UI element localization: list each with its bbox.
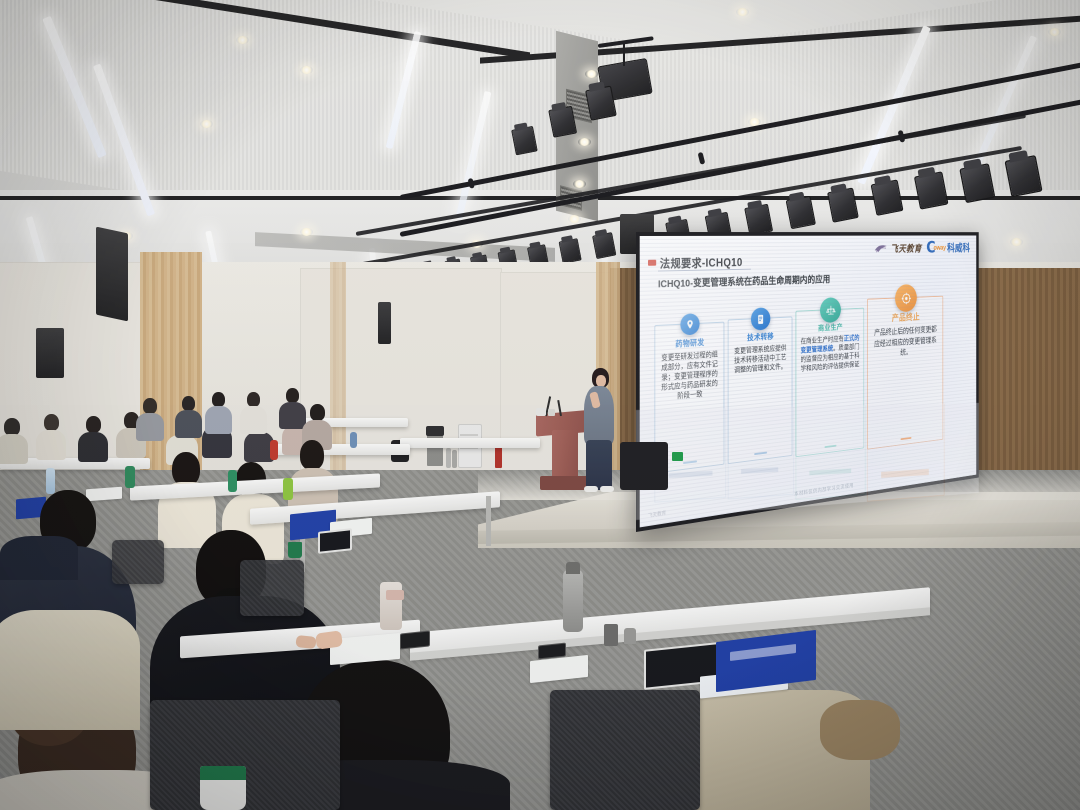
gas-cylinder [452,450,457,468]
water-bottle [350,432,357,448]
conference-room-photo: 飞天教育 C oway 科威科 法规要求-ICHQ10 ICHQ10-变更管理系… [0,0,1080,810]
water-bottle [46,468,55,494]
ceiling-downlight [568,215,581,223]
attendee-hand [295,635,316,649]
wall-speaker [36,328,64,378]
card-body: 产品终止后的任何变更都应经过相应的变更管理系统。 [871,324,939,361]
coffee-cup [288,542,302,558]
card-body: 变更至研发过程的组成部分，应有文件记录；变更管理程序的形式应与药品研发的阶段一致 [660,350,719,403]
gas-cylinder [446,448,451,468]
ceiling-downlight [585,70,598,78]
stage-spotlight [585,85,617,120]
card-body: 变更管理系统应提供技术转移活动中工艺调整的管理和文件。 [733,343,788,375]
card-heading: 技术转移 [733,330,788,344]
fire-extinguisher [495,446,502,468]
stage-spotlight [744,204,773,236]
trolley-shelf [460,434,478,436]
coway-logo: C oway 科威科 [926,240,970,256]
attendee-hair [820,700,900,760]
card-heading: 药物研发 [660,336,719,350]
stage-spotlight [548,106,577,138]
drink-bottle [228,470,237,492]
coway-oway-text: oway [934,244,946,252]
smartphone [400,630,430,649]
stage-spotlight [1004,155,1042,197]
presenter-shoe [584,486,598,492]
card-heading: 商业生产 [800,321,860,334]
presenter-torso [584,386,614,444]
location-pin-icon [680,313,699,335]
coffee-cup-lid [200,766,246,780]
slide-title-mark-icon [648,260,656,266]
slide-subtitle: ICHQ10-变更管理系统在药品生命周期内的应用 [658,272,830,291]
ceiling-downlight [300,66,313,74]
exit-sign-icon [672,452,683,461]
cup-contents [386,590,404,600]
ceiling-downlight [1048,28,1061,36]
ceiling-downlight [573,180,586,188]
stage-spotlight [914,171,949,209]
presenter-shoe [600,486,614,492]
table-leg [486,496,491,546]
ceiling-downlight [578,138,591,146]
feitian-logo: 飞天教育 [874,241,921,255]
card-body-commercial: 在商业生产时应有正式的变更管理系统。质量部门的监督应为相应的基于科学和风险的评估… [800,333,860,373]
slide-brand-bar: 飞天教育 C oway 科威科 [874,240,970,257]
audience-table [400,438,540,448]
chair-back [112,540,164,584]
room-interior: 飞天教育 C oway 科威科 法规要求-ICHQ10 ICHQ10-变更管理系… [0,0,1080,810]
thermos [270,440,278,460]
chair-back [550,690,700,810]
stage-spotlight [827,187,859,222]
ceiling-downlight [200,120,213,128]
presenter-legs [586,440,612,490]
stage-spotlight [959,163,995,203]
stage-spotlight [559,238,582,264]
tablet-device [318,528,352,554]
small-flask [624,628,636,644]
attendee-hood [0,536,78,580]
thermos [563,570,583,632]
drink-bottle [125,466,135,488]
podium-item [548,409,555,416]
stage-spotlight [592,232,616,259]
thermos-cap [566,562,580,574]
target-gear-icon [895,284,917,312]
document-icon [751,307,770,330]
drink-bottle [283,478,293,500]
bird-icon [874,243,888,254]
desk-stapler [604,624,618,646]
ceiling-downlight [736,8,749,16]
stage-spotlight [786,196,816,230]
coway-chinese-name: 科威科 [947,240,970,254]
feitian-label: 飞天教育 [890,241,921,255]
balance-scales-icon [820,297,841,323]
wall-speaker [96,227,128,322]
equipment-case [620,442,668,490]
ceiling-downlight [300,228,313,236]
wall-speaker [378,302,391,344]
handout-paper [86,487,122,502]
trash-bin-lid [426,426,444,436]
stage-spotlight [871,179,904,216]
stage-spotlight [511,126,538,155]
chair-back [240,560,304,616]
podium-water-bottle [536,408,546,416]
ceiling-downlight [236,36,249,44]
podium-base [540,476,590,490]
